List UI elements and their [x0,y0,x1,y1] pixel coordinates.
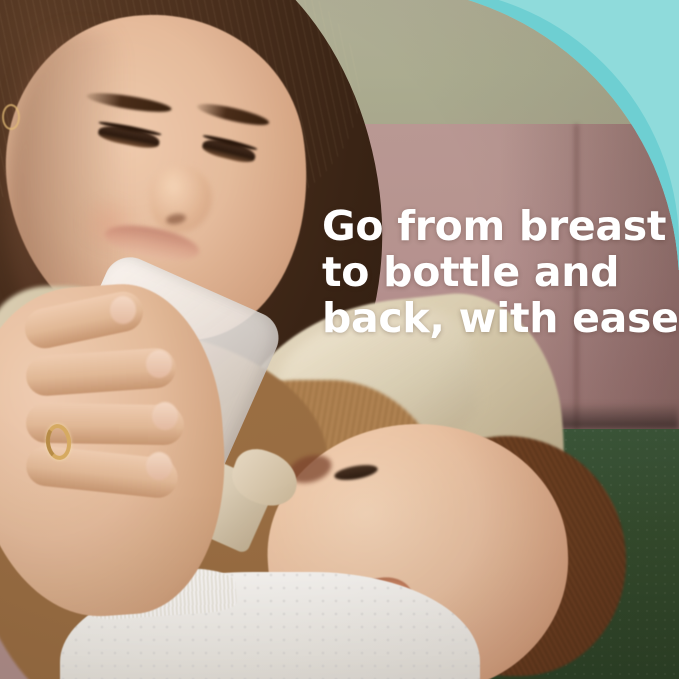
headline-line-1: Go from breast [322,203,652,249]
page-title: Go from breast to bottle and back, with … [322,203,652,341]
fingernail [152,402,178,430]
lifestyle-banner: Go from breast to bottle and back, with … [0,0,679,679]
fingernail [146,350,172,378]
fingernail [110,296,136,324]
headline-line-3: back, with ease [322,295,652,341]
fingernail [146,452,172,480]
headline-line-2: to bottle and [322,249,652,295]
earring [2,104,20,130]
